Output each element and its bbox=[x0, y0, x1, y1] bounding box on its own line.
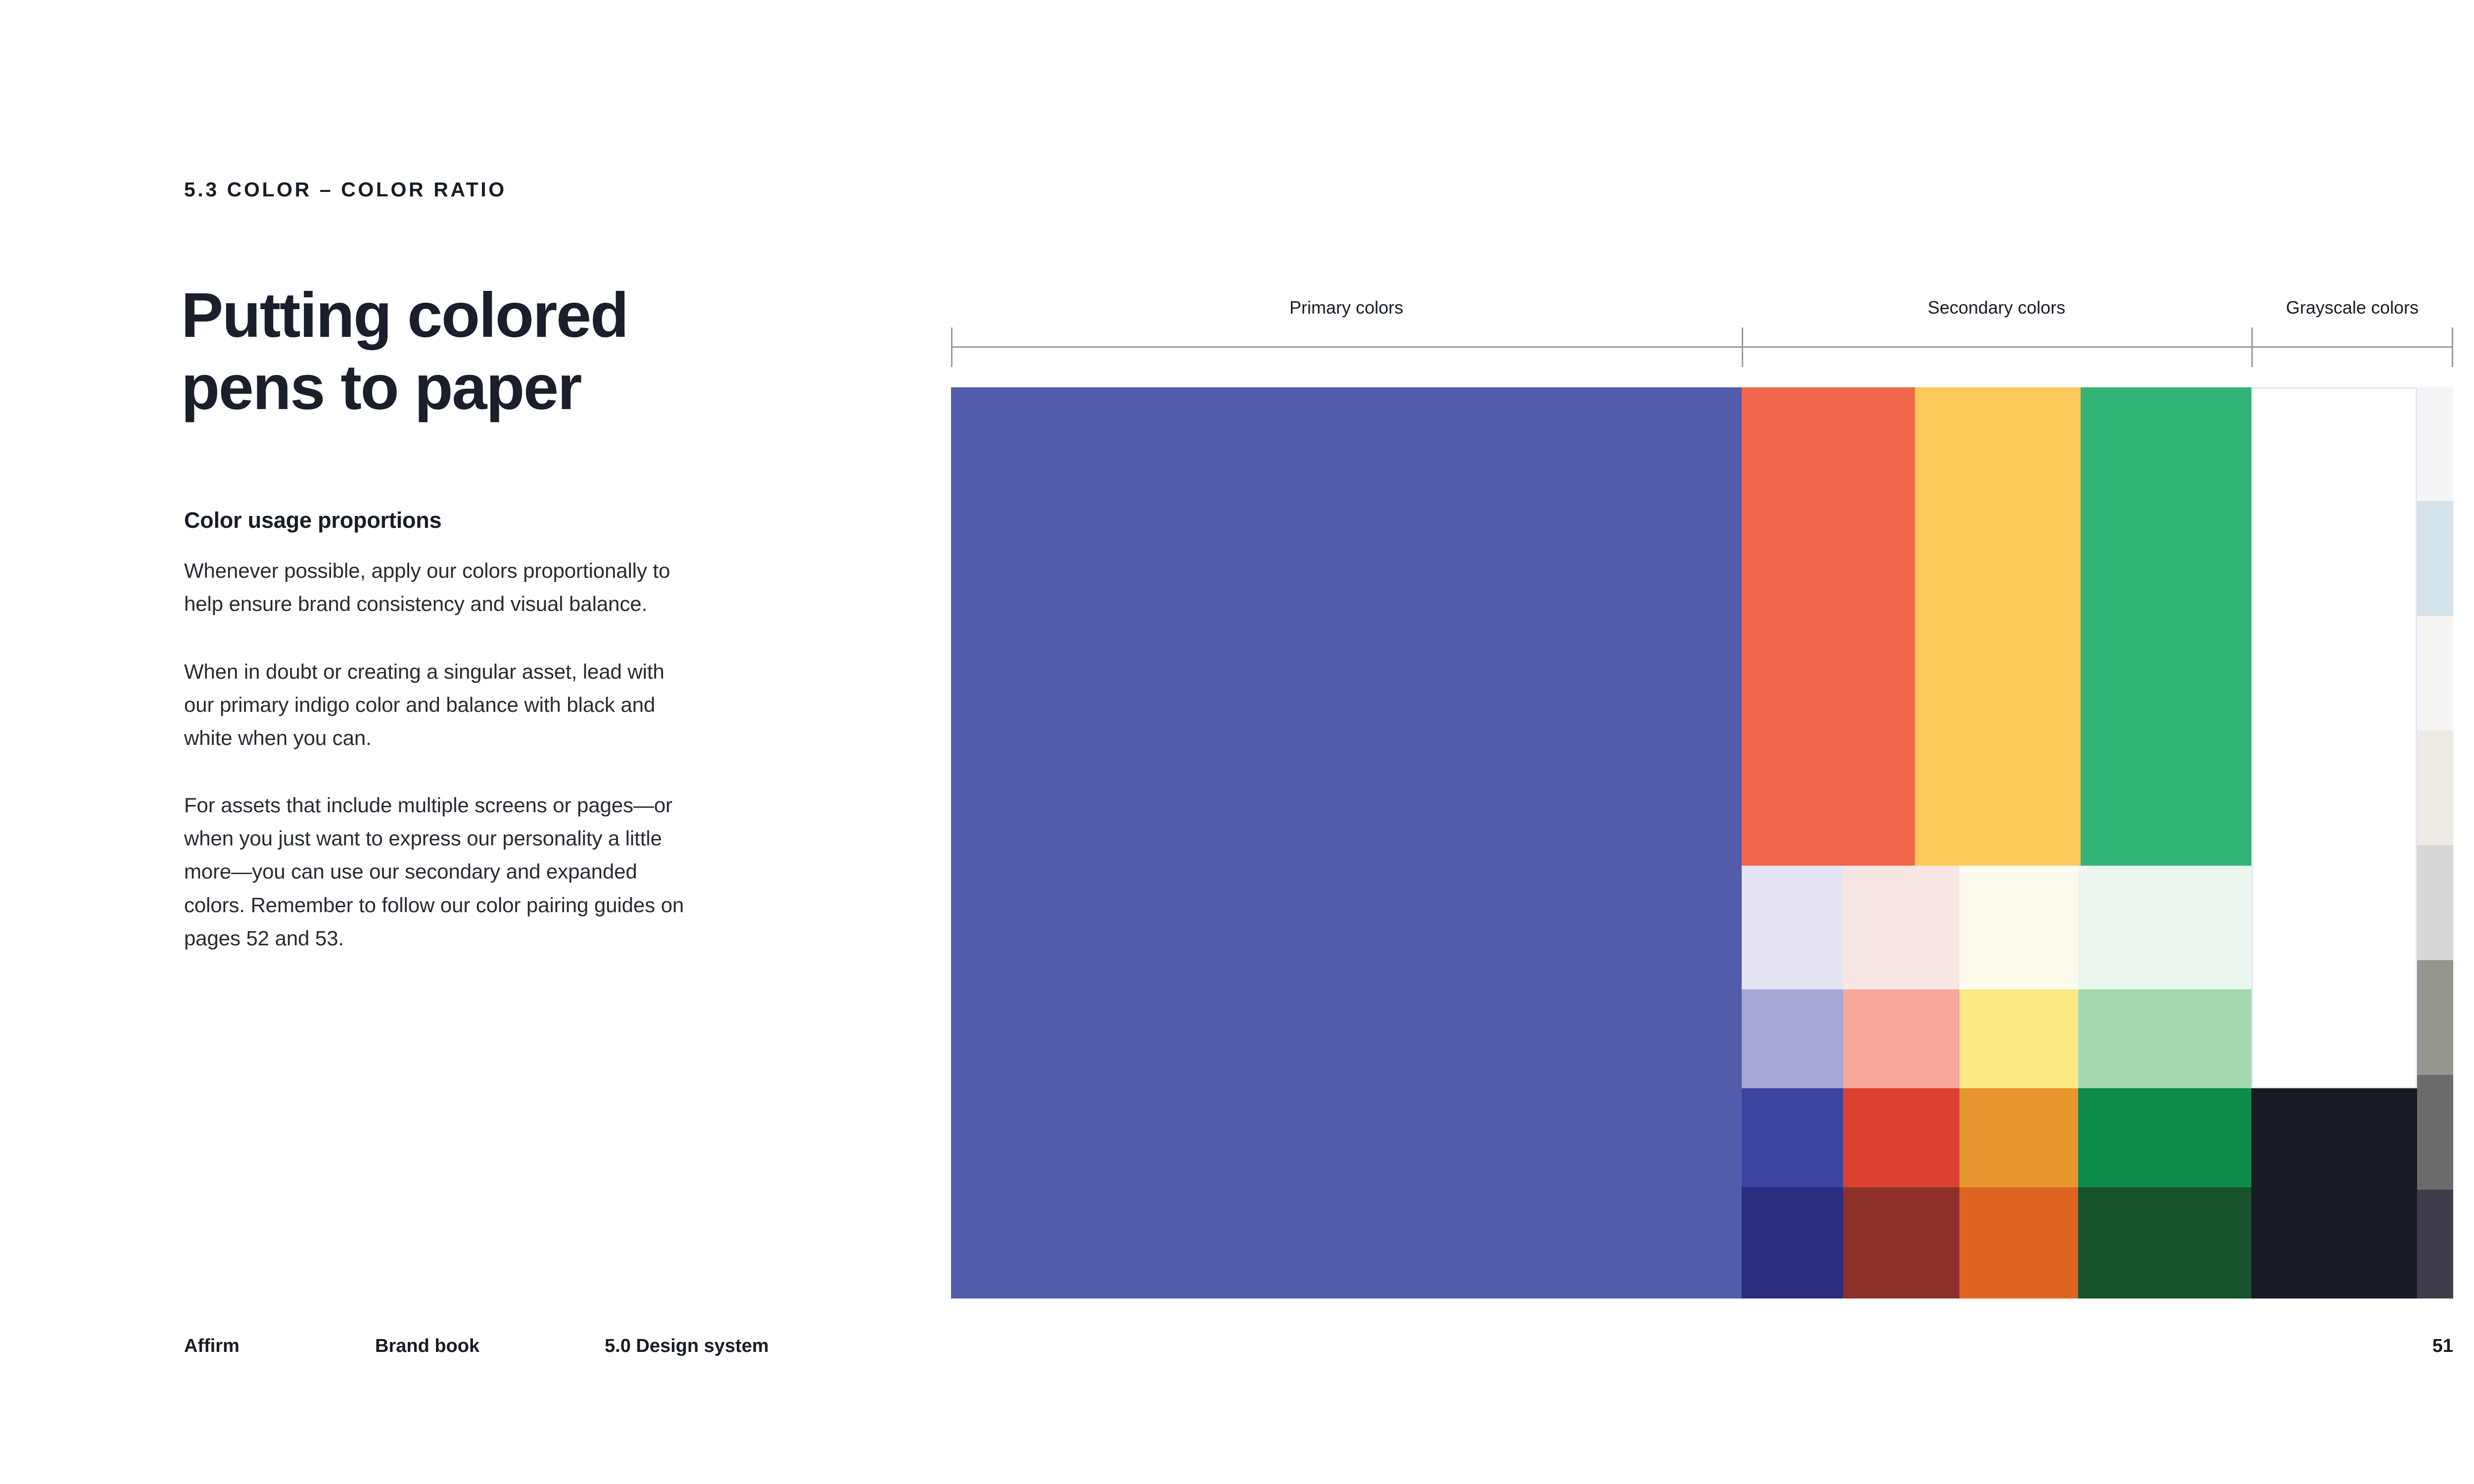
swatch-warm-gray-05 bbox=[2417, 616, 2453, 731]
bracket-tick-end bbox=[2452, 327, 2453, 367]
swatch-gray-50 bbox=[2417, 960, 2453, 1075]
footer-brand: Affirm bbox=[184, 1336, 239, 1357]
swatch-maroon bbox=[1843, 1187, 1959, 1298]
swatch-blue-gray-10 bbox=[2417, 501, 2453, 616]
swatch-green-tint-40 bbox=[2078, 989, 2251, 1088]
swatch-green-darkest bbox=[2078, 1187, 2251, 1298]
swatch-indigo-tint-40 bbox=[1742, 989, 1843, 1088]
swatch-white bbox=[2251, 387, 2417, 1088]
swatch-gray-05 bbox=[2417, 387, 2453, 501]
swatch-orange-darkest bbox=[1959, 1187, 2078, 1298]
bracket-tick-grayscale bbox=[2251, 327, 2253, 367]
swatch-gray-80 bbox=[2417, 1190, 2453, 1298]
legend-label-grayscale: Grayscale colors bbox=[2286, 297, 2419, 318]
swatch-yellow bbox=[1915, 387, 2081, 866]
swatch-indigo-tint-10 bbox=[1742, 866, 1843, 989]
swatch-coral-dark bbox=[1843, 1088, 1959, 1187]
swatch-orange bbox=[1959, 1088, 2078, 1187]
swatch-green-dark bbox=[2078, 1088, 2251, 1187]
swatch-gray-20 bbox=[2417, 845, 2453, 960]
page-title: Putting colored pens to paper bbox=[181, 279, 735, 424]
bracket-tick-secondary bbox=[1742, 327, 1743, 367]
swatch-indigo-dark bbox=[1742, 1088, 1843, 1187]
swatch-black bbox=[2251, 1088, 2417, 1298]
color-ratio-diagram bbox=[951, 387, 2453, 1298]
swatch-indigo bbox=[951, 387, 1742, 1298]
swatch-coral-tint-10 bbox=[1843, 866, 1959, 989]
bracket-tick-start bbox=[951, 327, 952, 367]
swatch-coral-tint-40 bbox=[1843, 989, 1959, 1088]
swatch-coral bbox=[1742, 387, 1915, 866]
swatch-yellow-tint-40 bbox=[1959, 989, 2078, 1088]
section-eyebrow: 5.3 COLOR – COLOR RATIO bbox=[184, 178, 507, 201]
footer-book-title: Brand book bbox=[375, 1336, 479, 1357]
left-text-column: 5.3 COLOR – COLOR RATIO Putting colored … bbox=[184, 0, 728, 1484]
body-paragraph-3: For assets that include multiple screens… bbox=[184, 788, 694, 955]
page-number: 51 bbox=[2432, 1336, 2453, 1357]
swatch-green bbox=[2081, 387, 2251, 866]
footer-system-version: 5.0 Design system bbox=[605, 1336, 769, 1357]
swatch-warm-gray-10 bbox=[2417, 731, 2453, 845]
bracket-rule bbox=[951, 346, 2453, 348]
swatch-gray-60 bbox=[2417, 1075, 2453, 1190]
body-paragraph-2: When in doubt or creating a singular ass… bbox=[184, 655, 694, 755]
swatch-yellow-tint-10 bbox=[1959, 866, 2078, 989]
subsection-heading: Color usage proportions bbox=[184, 508, 441, 533]
legend-bracket bbox=[951, 346, 2453, 347]
body-paragraph-1: Whenever possible, apply our colors prop… bbox=[184, 554, 694, 620]
swatch-green-tint-10 bbox=[2078, 866, 2251, 989]
legend-label-primary: Primary colors bbox=[1289, 297, 1403, 318]
legend-label-secondary: Secondary colors bbox=[1928, 297, 2065, 318]
swatch-indigo-darkest bbox=[1742, 1187, 1843, 1298]
brand-book-page: 5.3 COLOR – COLOR RATIO Putting colored … bbox=[0, 0, 2474, 1484]
